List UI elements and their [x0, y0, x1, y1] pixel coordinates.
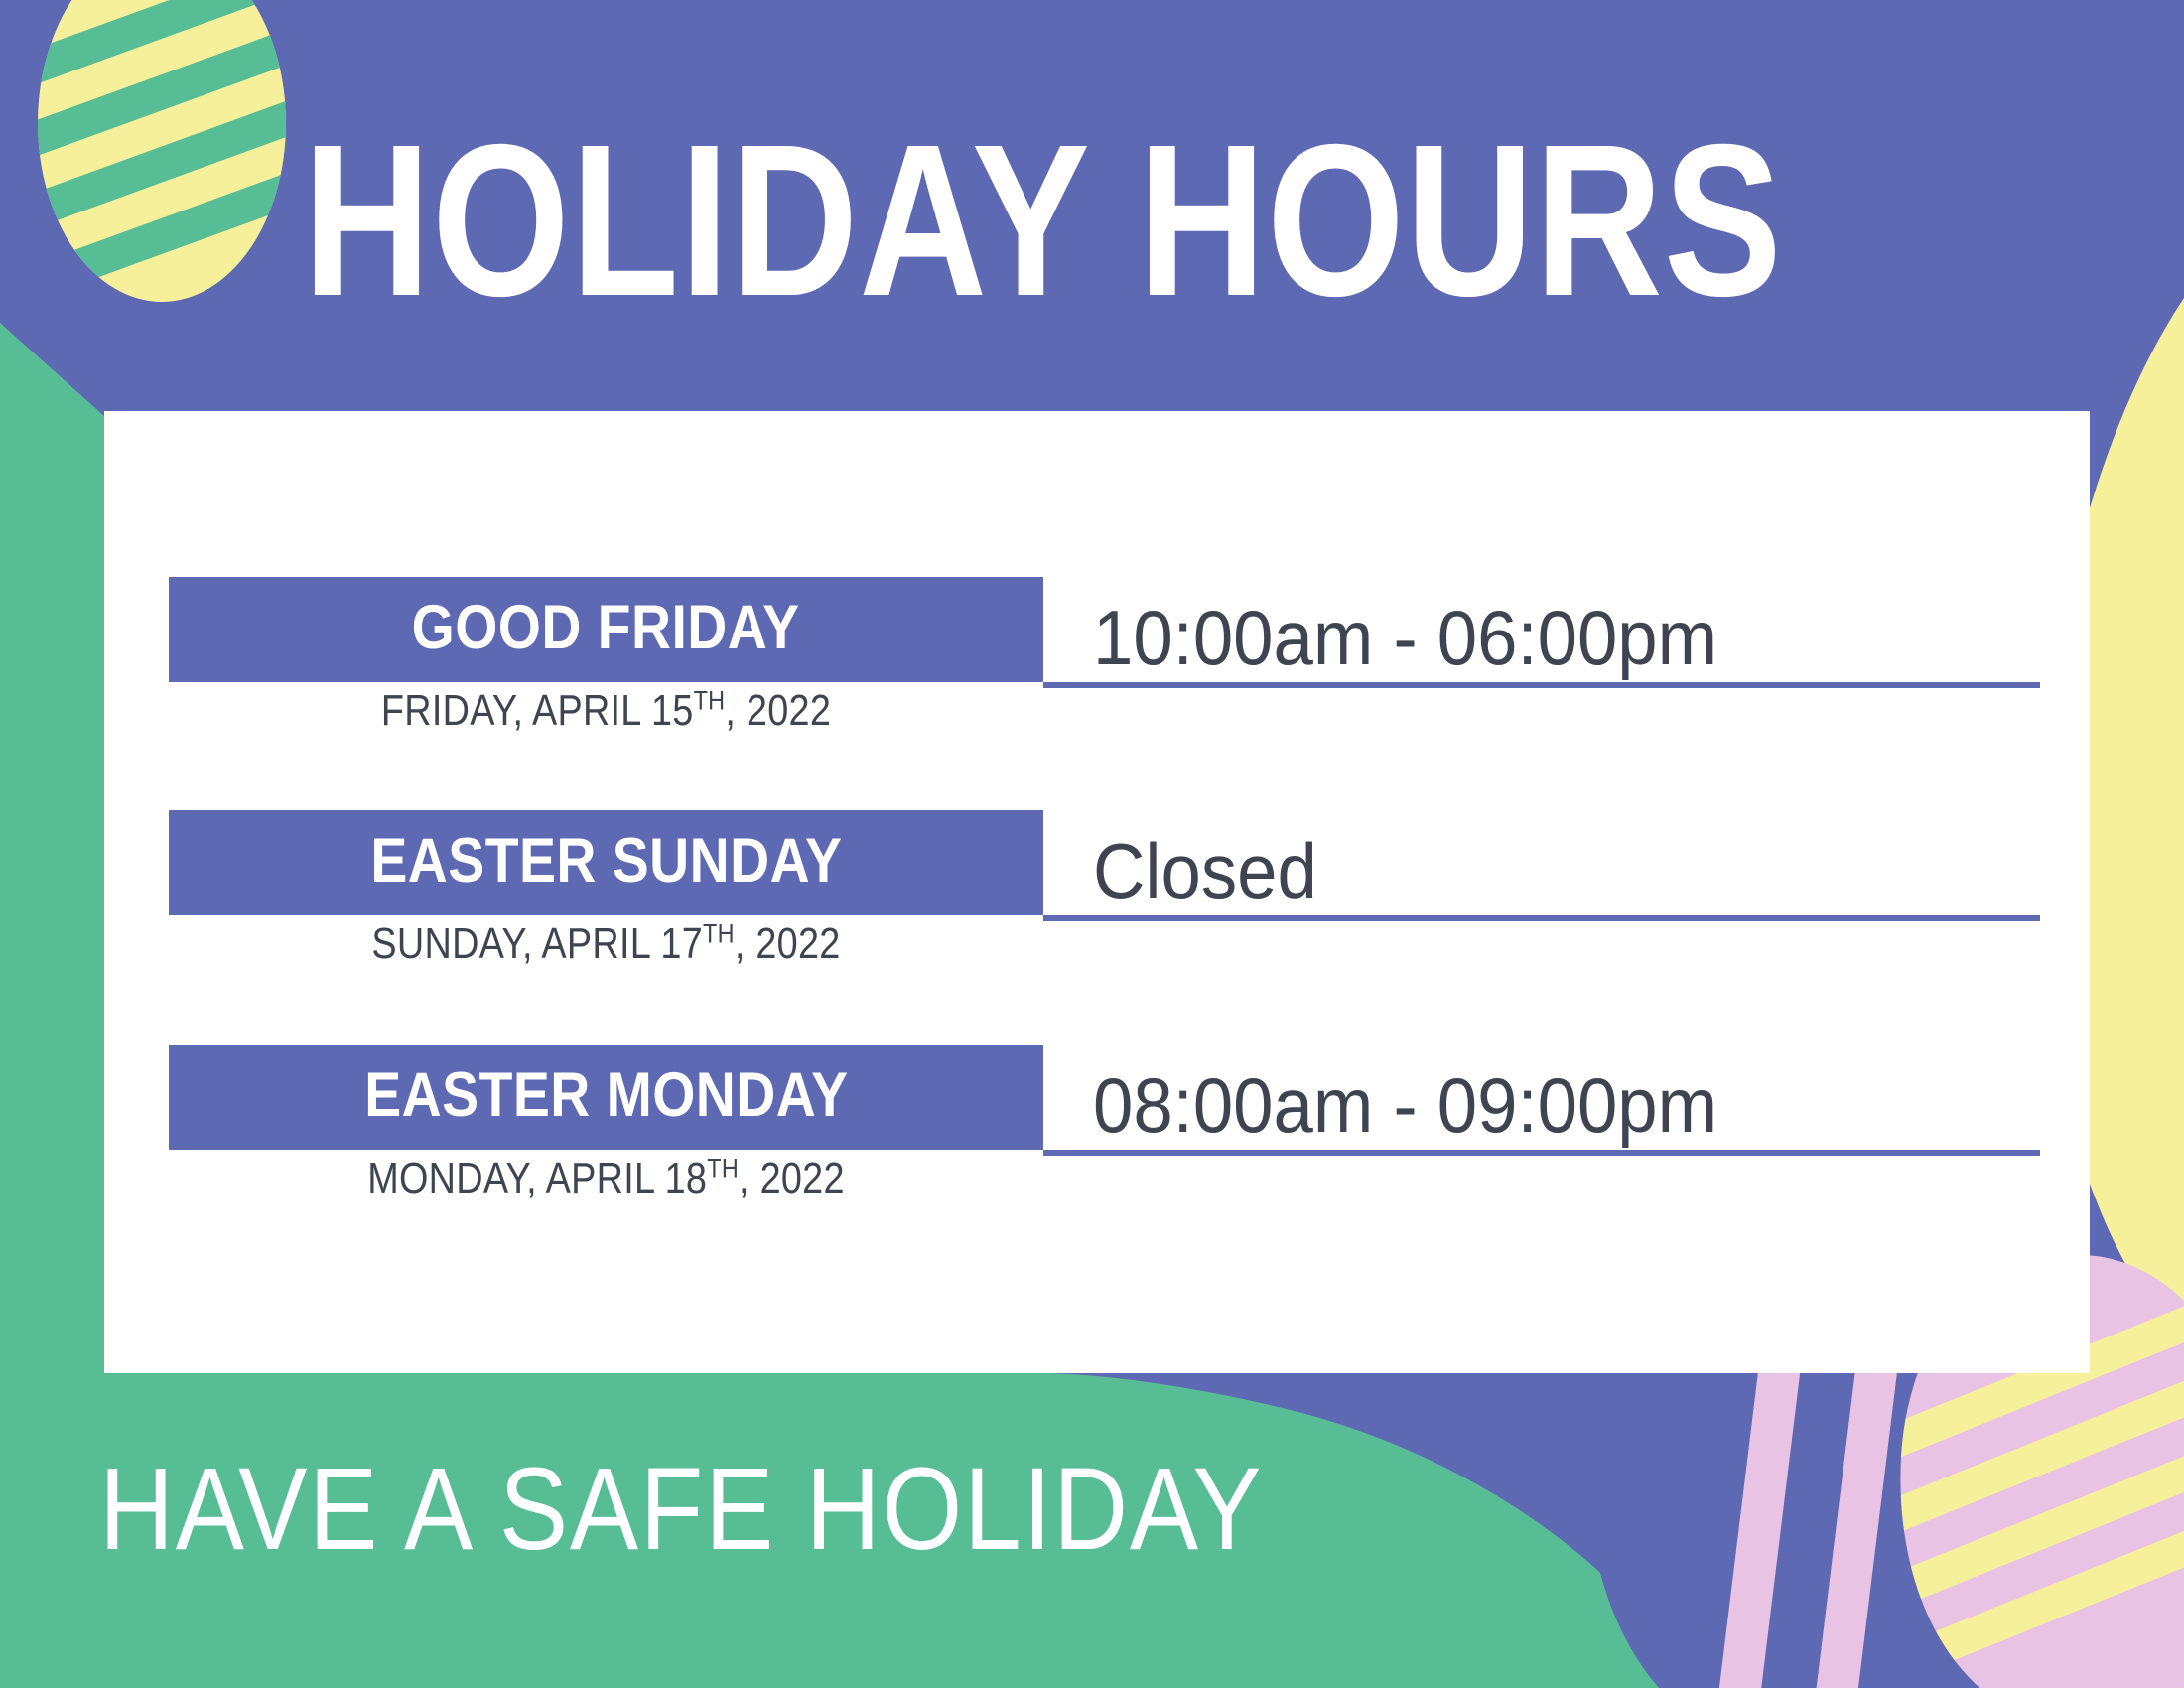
holiday-hours-cell: Closed	[1043, 810, 2040, 919]
holiday-name: GOOD FRIDAY	[412, 592, 800, 663]
holiday-date: FRIDAY, APRIL 15TH, 2022	[230, 686, 983, 736]
page-title: HOLIDAY HOURS	[303, 117, 1638, 326]
hours-underline	[1043, 682, 2040, 688]
holiday-date-ordinal: TH	[694, 684, 726, 715]
holiday-name-bar: EASTER SUNDAY	[169, 810, 1043, 915]
hours-underline	[1043, 1150, 2040, 1156]
holiday-date-ordinal: TH	[703, 917, 735, 948]
holiday-date-suffix: , 2022	[735, 919, 841, 968]
holiday-hours-poster: HOLIDAY HOURS GOOD FRIDAY FRIDAY, APRIL …	[0, 0, 2184, 1688]
holiday-date-prefix: FRIDAY, APRIL 15	[381, 686, 694, 735]
hours-underline	[1043, 915, 2040, 921]
holiday-hours-cell: 10:00am - 06:00pm	[1043, 577, 2040, 686]
holiday-name-bar: GOOD FRIDAY	[169, 577, 1043, 682]
holiday-date-ordinal: TH	[707, 1152, 739, 1183]
holiday-name: EASTER MONDAY	[364, 1059, 848, 1131]
holiday-hours: Closed	[1093, 830, 1317, 912]
holiday-date-suffix: , 2022	[725, 686, 831, 735]
footer-message: HAVE A SAFE HOLIDAY	[99, 1450, 1263, 1569]
holiday-name: EASTER SUNDAY	[370, 825, 842, 897]
holiday-date-prefix: MONDAY, APRIL 18	[367, 1154, 707, 1202]
holiday-date-prefix: SUNDAY, APRIL 17	[371, 919, 703, 968]
holiday-date-suffix: , 2022	[739, 1154, 845, 1202]
holiday-hours-cell: 08:00am - 09:00pm	[1043, 1045, 2040, 1154]
schedule-rows: GOOD FRIDAY FRIDAY, APRIL 15TH, 2022 10:…	[104, 411, 2090, 1373]
holiday-hours: 10:00am - 06:00pm	[1093, 597, 1717, 678]
holiday-date: SUNDAY, APRIL 17TH, 2022	[230, 919, 983, 969]
holiday-date: MONDAY, APRIL 18TH, 2022	[230, 1154, 983, 1203]
holiday-name-bar: EASTER MONDAY	[169, 1045, 1043, 1150]
holiday-hours: 08:00am - 09:00pm	[1093, 1064, 1717, 1146]
schedule-card: GOOD FRIDAY FRIDAY, APRIL 15TH, 2022 10:…	[104, 411, 2090, 1373]
